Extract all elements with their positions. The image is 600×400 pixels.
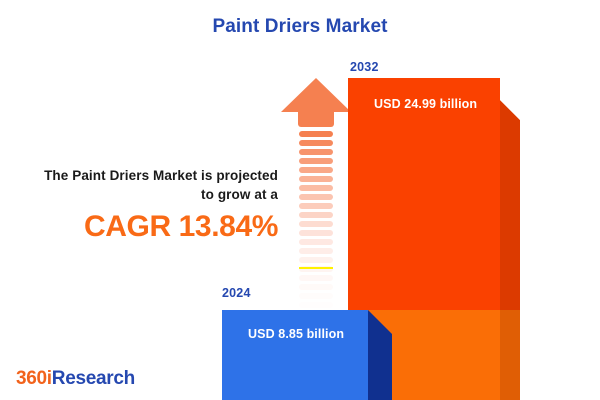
- arrow-stripe: [299, 158, 333, 164]
- brand-logo: 360iResearch: [16, 368, 135, 390]
- bar-2024: [222, 310, 392, 400]
- arrow-stripe: [299, 167, 333, 173]
- arrow-stripe: [299, 284, 333, 290]
- bar-2032-side-lower: [500, 310, 520, 400]
- cagr-value: CAGR 13.84%: [14, 210, 278, 244]
- arrow-stripe: [299, 239, 333, 245]
- bar-value-label-2024: USD 8.85 billion: [248, 327, 344, 341]
- arrow-stripe: [299, 185, 333, 191]
- brand-logo-mark: 360i: [16, 368, 52, 389]
- up-arrow-icon: [281, 78, 351, 293]
- arrow-stripe: [299, 221, 333, 227]
- narrative-line-2: to grow at a: [14, 185, 278, 204]
- narrative-block: The Paint Driers Market is projected to …: [14, 166, 278, 244]
- arrow-spark-line: [299, 267, 333, 269]
- arrow-stripe: [299, 248, 333, 254]
- arrow-stripe: [299, 140, 333, 146]
- bar-2032-face-upper: [348, 78, 500, 310]
- bar-2024-side: [368, 310, 392, 400]
- arrow-stripe: [299, 131, 333, 137]
- arrow-stripe: [299, 149, 333, 155]
- bar-value-label-2032: USD 24.99 billion: [374, 97, 477, 111]
- arrow-stripe: [299, 212, 333, 218]
- arrow-stripe: [299, 230, 333, 236]
- arrow-stripe: [299, 176, 333, 182]
- arrow-stripe: [299, 194, 333, 200]
- bar-year-label-2024: 2024: [222, 286, 251, 300]
- arrow-stripe: [299, 275, 333, 281]
- arrow-stripe-stack: [299, 131, 333, 311]
- brand-logo-word: Research: [52, 368, 135, 389]
- arrow-stripe: [299, 203, 333, 209]
- arrow-stripe: [299, 293, 333, 299]
- arrow-stripe: [299, 302, 333, 308]
- arrow-neck-shape: [298, 111, 334, 127]
- infographic-canvas: Paint Driers Market The Paint Driers Mar…: [0, 0, 600, 400]
- arrow-head-shape: [281, 78, 351, 112]
- bar-year-label-2032: 2032: [350, 60, 379, 74]
- narrative-line-1: The Paint Driers Market is projected: [14, 166, 278, 185]
- bar-2024-face: [222, 310, 368, 400]
- page-title: Paint Driers Market: [0, 16, 600, 38]
- arrow-stripe: [299, 257, 333, 263]
